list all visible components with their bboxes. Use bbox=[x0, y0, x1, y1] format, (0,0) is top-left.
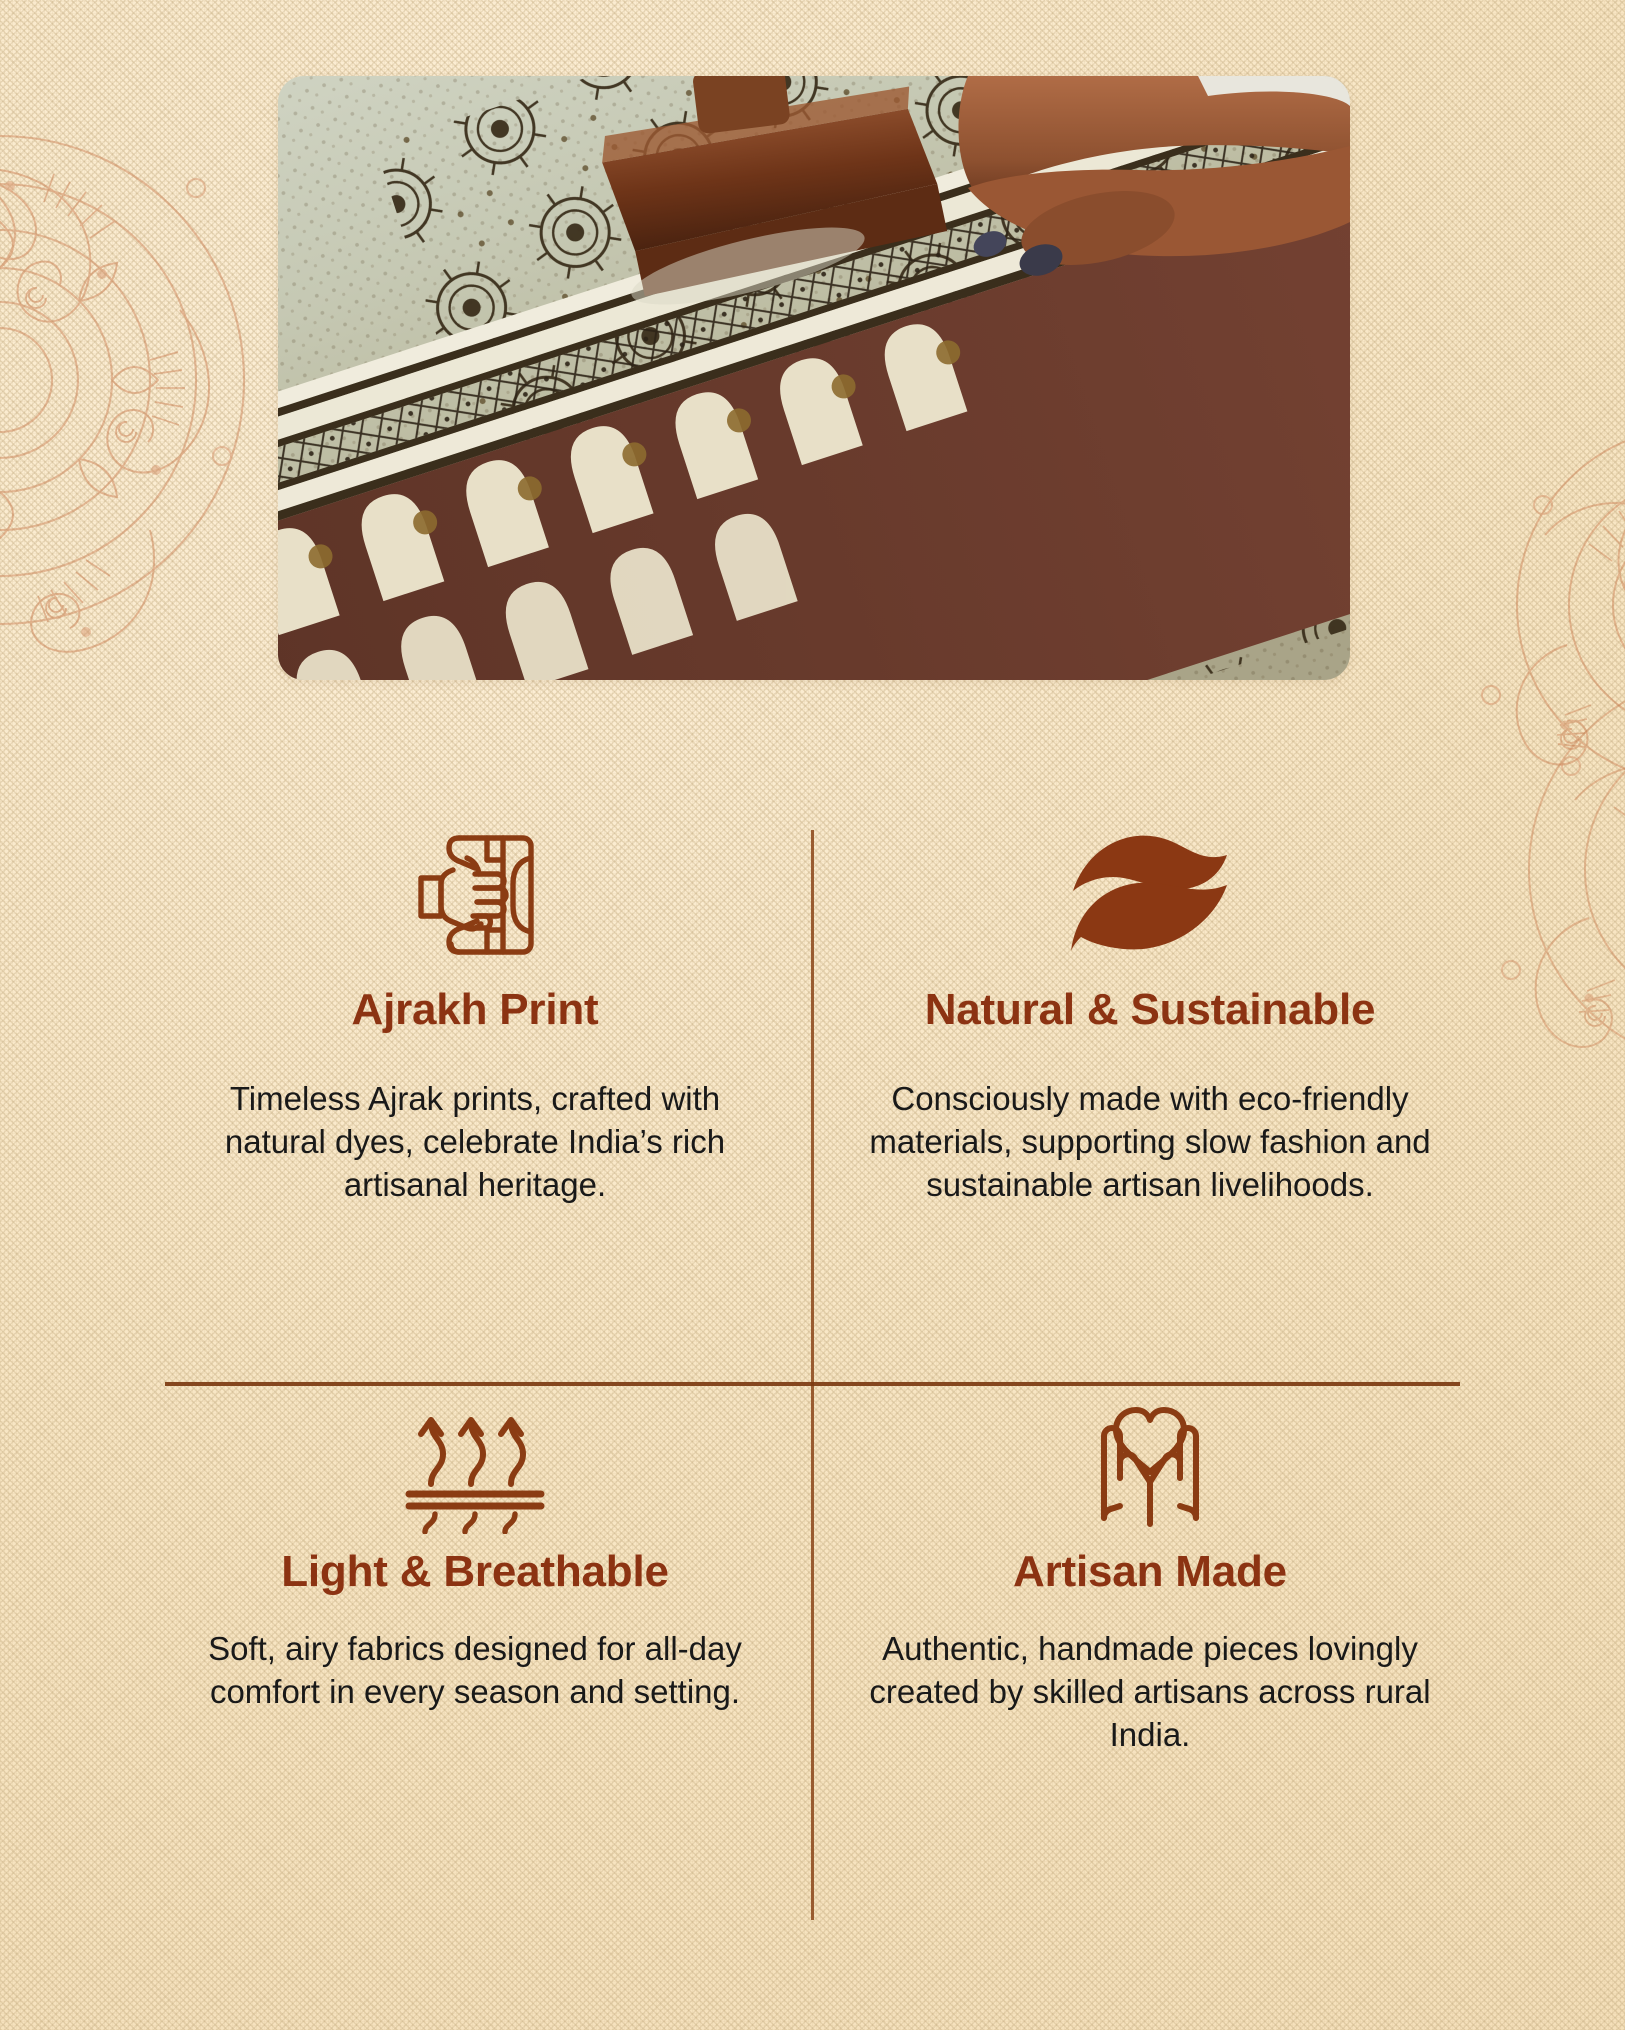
hero-image bbox=[278, 76, 1350, 680]
page-background: Ajrakh Print Timeless Ajrak prints, craf… bbox=[0, 0, 1625, 2030]
feature-grid: Ajrakh Print Timeless Ajrak prints, craf… bbox=[165, 820, 1460, 1930]
feature-description: Timeless Ajrak prints, crafted with natu… bbox=[175, 1078, 775, 1207]
hand-holding-print-block-icon bbox=[411, 820, 539, 970]
feature-description: Soft, airy fabrics designed for all-day … bbox=[175, 1628, 775, 1714]
feature-title: Light & Breathable bbox=[281, 1550, 669, 1594]
leaf-icon bbox=[1069, 820, 1231, 970]
feature-description: Authentic, handmade pieces lovingly crea… bbox=[860, 1628, 1440, 1757]
feature-description: Consciously made with eco-friendly mater… bbox=[860, 1078, 1440, 1207]
feature-title: Natural & Sustainable bbox=[925, 988, 1376, 1032]
breathable-airflow-icon bbox=[405, 1392, 545, 1542]
vertical-divider bbox=[811, 830, 814, 1920]
block-printing-photo bbox=[278, 76, 1350, 680]
horizontal-divider bbox=[165, 1382, 1460, 1386]
feature-card-natural-sustainable: Natural & Sustainable Consciously made w… bbox=[840, 820, 1460, 1207]
feature-card-ajrakh-print: Ajrakh Print Timeless Ajrak prints, craf… bbox=[165, 820, 785, 1207]
hands-holding-heart-icon bbox=[1082, 1392, 1218, 1542]
feature-title: Artisan Made bbox=[1013, 1550, 1287, 1594]
feature-title: Ajrakh Print bbox=[352, 988, 599, 1032]
feature-card-light-breathable: Light & Breathable Soft, airy fabrics de… bbox=[165, 1392, 785, 1714]
henna-mandala-left-icon bbox=[0, 60, 280, 705]
feature-card-artisan-made: Artisan Made Authentic, handmade pieces … bbox=[840, 1392, 1460, 1757]
